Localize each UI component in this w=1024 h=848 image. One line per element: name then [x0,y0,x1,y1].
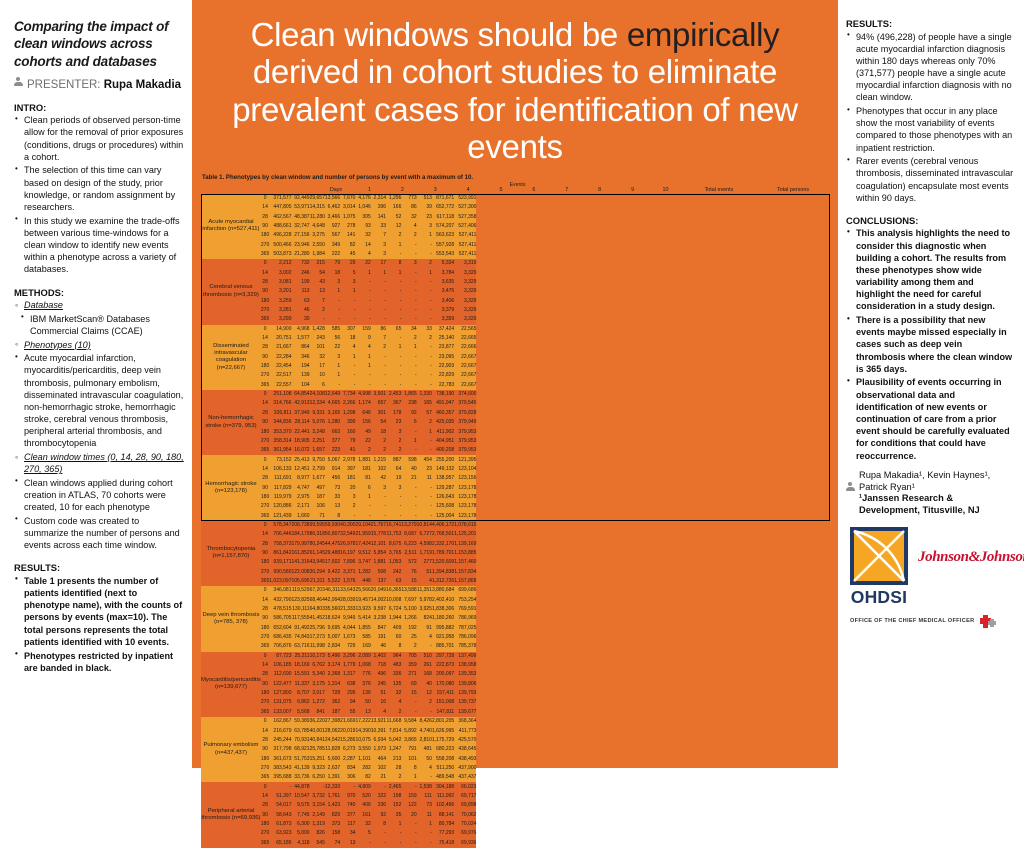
cell-value: - [417,483,432,492]
table-row: Hemorrhagic stroke (n=123,178)073,15225,… [201,455,476,464]
cell-value: 94 [340,698,355,707]
cell-value: - [340,306,355,315]
cell-value: - [417,250,432,259]
cell-value: 22,284 [269,353,291,362]
cell-value: 11,828 [325,745,340,754]
cell-value: - [401,502,416,511]
cell-days: 90 [261,549,269,558]
cell-value: 344,836 [269,418,291,427]
cell-value: 102,496 [432,801,454,810]
cell-value: - [401,240,416,249]
cell-value: 379,953 [454,427,476,436]
cell-value: 13,921 [371,717,386,726]
cell-value: 1,855 [355,624,370,633]
phenotype-label: Hemorrhagic stroke (n=123,178) [201,455,261,520]
cell-value: 22,565 [454,325,476,334]
cell-value: 14,900 [269,325,291,334]
cell-value: 139,677 [454,708,476,717]
cell-value: 307 [340,325,355,334]
cell-value: - [371,278,386,287]
cell-value: - [401,483,416,492]
cell-value: 787,025 [454,624,476,633]
table-head: Events Days12345678910Total eventsTotal … [201,183,830,194]
cell-value: 4,176 [355,194,370,203]
cell-value: - [386,829,401,838]
table-caption: Table 1. Phenotypes by clean window and … [196,165,834,183]
cell-value: 15,778 [371,530,386,539]
cell-value: 122 [401,801,416,810]
cell-value: 5,978 [417,596,432,605]
cell-value: 70,062 [454,810,476,819]
cell-value: 1,272 [310,698,325,707]
poster-headline: Clean windows should be empirically deri… [196,0,834,165]
cell-value: 32 [355,231,370,240]
cell-value: 21,311 [310,577,325,586]
cell-value: 44,878 [292,782,310,791]
cell-value: 3,635 [432,278,454,287]
cell-value: 1,266 [401,614,416,623]
cell-value: 3 [417,222,432,231]
cell-value: 2 [386,231,401,240]
cell-value: 732 [292,259,310,268]
cell-value: 10,075 [355,736,370,745]
cell-value: 527,411 [454,250,476,259]
cell-value: 5,340 [310,670,325,679]
ocmo-text: OFFICE OF THE CHIEF MEDICAL OFFICER [850,618,974,624]
cell-value: 51,397 [269,792,291,801]
cell-value: 25 [401,633,416,642]
cell-days: 365 [261,315,269,324]
cell-value: 397 [340,465,355,474]
cell-value: 27,398 [325,717,340,726]
cell-value: 69 [401,680,416,689]
page-title: Comparing the impact of clean windows ac… [14,18,184,70]
cell-value: 776 [355,670,370,679]
cell-days: 270 [261,633,269,642]
cell-value: - [401,708,416,717]
cell-value: 15 [401,577,416,586]
cell-value: 885,701 [432,642,454,651]
list-item: Phenotypes that occur in any place show … [846,105,1014,154]
cell-value: 156 [355,418,370,427]
cell-value: 17,424 [355,539,370,548]
col-header-8: 8 [583,188,616,193]
cell-value: 187 [310,493,325,502]
cell-value: 48,387 [292,212,310,221]
cell-value: 22 [355,437,370,446]
cell-value: 21 [401,474,416,483]
cell-value: 1 [340,287,355,296]
cell-value: 9,323 [310,764,325,773]
cell-days: 0 [261,586,269,595]
cell-value: 82 [340,240,355,249]
cell-value: 411,773 [454,726,476,735]
cell-value: 117 [340,820,355,829]
cell-value: 706,446 [269,530,291,539]
list-item: IBM MarketScan® Databases Commercial Cla… [14,313,184,337]
cell-value: - [401,820,416,829]
cell-value: 447,805 [269,203,291,212]
cell-value: 367 [386,399,401,408]
cell-value: 166 [386,203,401,212]
cell-value: 2,978 [340,455,355,464]
cell-value: 50 [417,754,432,763]
cell-value: 19,457 [355,596,370,605]
cell-value: - [386,511,401,520]
cell-value: 49 [355,427,370,436]
cell-days: 90 [261,680,269,689]
cell-value: 73 [417,801,432,810]
cell-value: 22,667 [454,353,476,362]
cell-value: 2,810 [417,736,432,745]
cell-value: 3,299 [269,315,291,324]
cell-value: 23 [417,465,432,474]
cell-value: - [371,829,386,838]
cell-value: - [355,502,370,511]
cell-value: - [386,493,401,502]
cell-value: - [340,297,355,306]
cell-days: 0 [261,521,269,530]
cell-value: 25,140 [432,334,454,343]
cell-value: 63 [386,577,401,586]
cell-value: 22,667 [454,371,476,380]
cell-value: 81 [355,474,370,483]
cell-value: 63,923 [269,829,291,838]
cell-value: - [340,782,355,791]
cell-value: 11,337 [292,680,310,689]
col-header-7: 7 [550,188,583,193]
cell-value: 1,247 [386,745,401,754]
cell-value: 1,881 [355,455,370,464]
cell-value: 58,643 [269,810,291,819]
cell-value: - [386,287,401,296]
cell-value: 7,745 [292,810,310,819]
cell-value: 123,178 [454,511,476,520]
cell-value: 3,154 [310,801,325,810]
cell-value: 6 [355,483,370,492]
cell-value: - [386,838,401,847]
table-group-8: Pulmonary embolism (n=437,437)0162,86759… [201,717,476,782]
cell-value: 59,930 [325,521,340,530]
cell-value: 135 [386,680,401,689]
cell-value: 2 [355,446,370,455]
cell-value: 9,331 [310,409,325,418]
cell-value: 41,452 [310,614,325,623]
cell-value: 222,873 [432,661,454,670]
cell-value: 26,978 [340,539,355,548]
cell-value: 12,649 [325,390,340,399]
cell-value: 106,133 [269,465,291,474]
cell-value: - [417,306,432,315]
cell-value: 361,673 [269,754,291,763]
cell-value: 1 [386,343,401,352]
cell-value: - [401,287,416,296]
cell-value: 245,244 [269,736,291,745]
jnj-logo: Johnson&Johnson [918,549,1024,566]
cell-value: 33,736 [292,773,310,782]
cell-value: 33 [371,222,386,231]
cell-value: 2,171 [292,502,310,511]
cell-value: 488,661 [269,222,291,231]
cell-value: 2,332,170 [432,539,454,548]
cell-value: 4 [371,708,386,717]
cell-value: 22,667 [454,381,476,390]
cell-value: 69,976 [454,829,476,838]
cell-value: 33 [417,325,432,334]
cell-value: 8,977 [292,474,310,483]
cell-value: 19 [386,474,401,483]
cell-value: 80,245 [310,539,325,548]
cell-days: 180 [261,558,269,567]
cell-days: 14 [261,596,269,605]
cell-value: 411,902 [432,427,454,436]
cell-value: 6,250 [310,773,325,782]
cell-value: 10,173 [310,652,325,661]
cell-value: 213 [386,754,401,763]
cell-value: 192 [401,624,416,633]
cell-value: - [401,829,416,838]
cell-value: 652,604 [269,624,291,633]
cell-value: 3,329 [454,268,476,277]
cell-value: - [386,362,401,371]
cell-value: - [325,306,340,315]
cell-value: 54 [310,268,325,277]
cell-value: 786,969 [454,614,476,623]
cell-value: 4,740 [417,726,432,735]
cell-days: 270 [261,306,269,315]
cell-value: 1 [355,493,370,502]
cell-value: 1,423 [325,801,340,810]
cell-days: 28 [261,670,269,679]
cell-days: 14 [261,334,269,343]
cell-value: 92 [401,409,416,418]
cell-value: 970 [340,792,355,801]
cell-value: 368,364 [454,717,476,726]
cell-value: 2,368 [325,670,340,679]
cell-value: - [417,381,432,390]
cell-value: 16,197 [340,549,355,558]
cell-value: 5,892 [401,726,416,735]
cell-value: 30 [292,315,310,324]
cell-value: 60 [386,633,401,642]
cell-value: 1,125,201 [454,530,476,539]
cell-value: 13 [355,708,370,717]
cell-value: - [401,698,416,707]
cell-value: 3,175 [310,680,325,689]
cell-value: 4,998 [355,390,370,399]
table-group-6: Deep vein thrombosis (n=785, 378)0346,08… [201,586,476,651]
cell-value: 1 [401,343,416,352]
cell-value: 2,149 [310,810,325,819]
cell-value: 17,602 [325,558,340,567]
cell-value: 1,838,306 [432,605,454,614]
cell-value: 1,789,701 [432,549,454,558]
col-header-5: 5 [485,188,518,193]
cell-value: 358,314 [269,437,291,446]
cell-value: 1 [325,287,340,296]
cell-value: 1,657 [310,446,325,455]
cell-value: 326,811 [269,409,291,418]
cell-value: 1,865 [401,390,416,399]
cell-value: 9,695 [325,624,340,633]
cell-value: 346,081 [269,586,291,595]
cell-value: 1 [355,268,370,277]
cell-value: 3,329 [454,306,476,315]
cell-value: - [386,371,401,380]
col-header-total-events: Total events [682,188,756,193]
cell-value: 861,842 [269,549,291,558]
cell-value: 758,373 [269,539,291,548]
cell-days: 270 [261,698,269,707]
cell-value: 1 [355,362,370,371]
cell-value: 317,798 [269,745,291,754]
cell-value: - [417,511,432,520]
cell-value: 119,529 [292,586,310,595]
table-group-7: Myocarditis/pericarditis (n=139,677)087,… [201,652,476,717]
cell-value: 2,251 [310,437,325,446]
cell-value: 4,809 [355,782,370,791]
cell-days: 14 [261,792,269,801]
cell-value: 54 [371,418,386,427]
cell-days: 180 [261,493,269,502]
cell-value: - [340,381,355,390]
cell-value: 32 [310,353,325,362]
cell-value: 165 [417,399,432,408]
cell-value: - [417,278,432,287]
cell-value: 21,669 [340,717,355,726]
cell-value: 238 [401,399,416,408]
cell-value: 15,251 [310,754,325,763]
cell-value: 377 [340,810,355,819]
cell-value: 54,017 [269,801,291,810]
cell-days: 365 [261,446,269,455]
cell-value: 1 [417,268,432,277]
cell-value: 3,281 [269,306,291,315]
cell-value: 59,389 [292,717,310,726]
cell-value: 3,174 [325,661,340,670]
cell-value: 200,097 [432,670,454,679]
cell-value: 563,623 [432,231,454,240]
headline-part2: derived in cohort studies to eliminate p… [232,53,798,165]
cell-value: 964 [386,652,401,661]
cell-value: 5 [355,829,370,838]
cell-value: 68,921 [292,745,310,754]
presenter-label: PRESENTER: [27,79,101,91]
cell-value: 1,319 [310,820,325,829]
cell-value: 448 [355,577,370,586]
cell-value: 61,873 [269,820,291,829]
cell-value: 4,665 [325,399,340,408]
cell-value: - [417,642,432,651]
cell-value: 139,793 [454,689,476,698]
table-group-1: Cerebral venous thrombosis (n=3,329)02,2… [201,259,476,324]
cell-value: - [355,287,370,296]
cell-value: 425,035 [432,418,454,427]
cell-value: 1,626,995 [432,726,454,735]
cell-value: 1,298 [340,409,355,418]
cell-value: 117,555 [292,614,310,623]
cell-value: 306 [340,773,355,782]
cell-value: 10 [310,371,325,380]
cell-value: 3,406 [432,297,454,306]
cell-value: 686,435 [269,633,291,642]
cell-value: 25,785 [310,745,325,754]
cell-value: - [325,315,340,324]
cell-value: 23,946 [292,240,310,249]
cell-value: 6,762 [310,661,325,670]
table-group-2: Disseminated intravascular coagulation (… [201,325,476,390]
cell-value: 1,761 [325,792,340,801]
phenotype-label: Pulmonary embolism (n=437,437) [201,717,261,782]
cell-value: 1,078,615 [454,521,476,530]
cell-value: 161,852 [292,549,310,558]
cell-value: - [371,297,386,306]
cell-days: 270 [261,764,269,773]
cell-value: 4 [355,343,370,352]
cell-value: 271 [401,670,416,679]
cell-value: - [417,437,432,446]
cell-value: 349 [325,240,340,249]
cell-days: 180 [261,231,269,240]
cell-days: 270 [261,829,269,838]
cell-value: - [371,511,386,520]
presenter-name: Rupa Makadia [104,79,181,91]
cell-value: 396 [371,203,386,212]
cell-value: 2,212 [269,259,291,268]
cell-value: 3,329 [454,287,476,296]
cell-value: 40 [401,465,416,474]
cell-value: 2,266 [340,399,355,408]
cell-value: 3 [386,427,401,436]
right-column: RESULTS: 94% (496,228) of people have a … [834,0,1024,768]
cell-value: 2,402,410 [432,596,454,605]
cell-value: 718 [371,661,386,670]
cell-value: 404,951 [432,437,454,446]
cell-value: 376 [355,680,370,689]
cell-value: 5,042 [386,736,401,745]
cell-value: 7 [310,297,325,306]
cell-value: 170,080 [432,680,454,689]
cell-value: 3,747 [355,558,370,567]
cell-value: 136 [355,689,370,698]
cell-value: 2 [401,231,416,240]
cell-value: 106 [310,502,325,511]
cell-value: 8,675 [386,539,401,548]
cell-days: 28 [261,212,269,221]
cell-value: 1,576 [340,577,355,586]
cell-value: 9,422 [325,567,340,576]
cell-value: 70,931 [292,736,310,745]
cell-value: 927 [325,222,340,231]
cell-days: 270 [261,240,269,249]
cell-value: 51 [417,567,432,576]
cell-value: 769,591 [454,605,476,614]
cell-value: 3,259 [269,297,291,306]
cell-days: 90 [261,614,269,623]
cell-value: 77,293 [432,829,454,838]
cell-days: 270 [261,371,269,380]
cell-value: 2,314 [371,194,386,203]
cell-value: 3,329 [454,278,476,287]
table-group-5: Thrombocytopenia (n=1,157,870)0578,34720… [201,521,476,586]
right-results-heading: RESULTS: [846,18,1014,29]
cell-value: 46,311 [325,586,340,595]
cell-value: 1,139,169 [454,539,476,548]
cell-value: 578,347 [269,521,291,530]
cell-value: 14,315 [310,203,325,212]
cell-value: 88,141 [432,810,454,819]
cell-value: 15,286 [340,736,355,745]
